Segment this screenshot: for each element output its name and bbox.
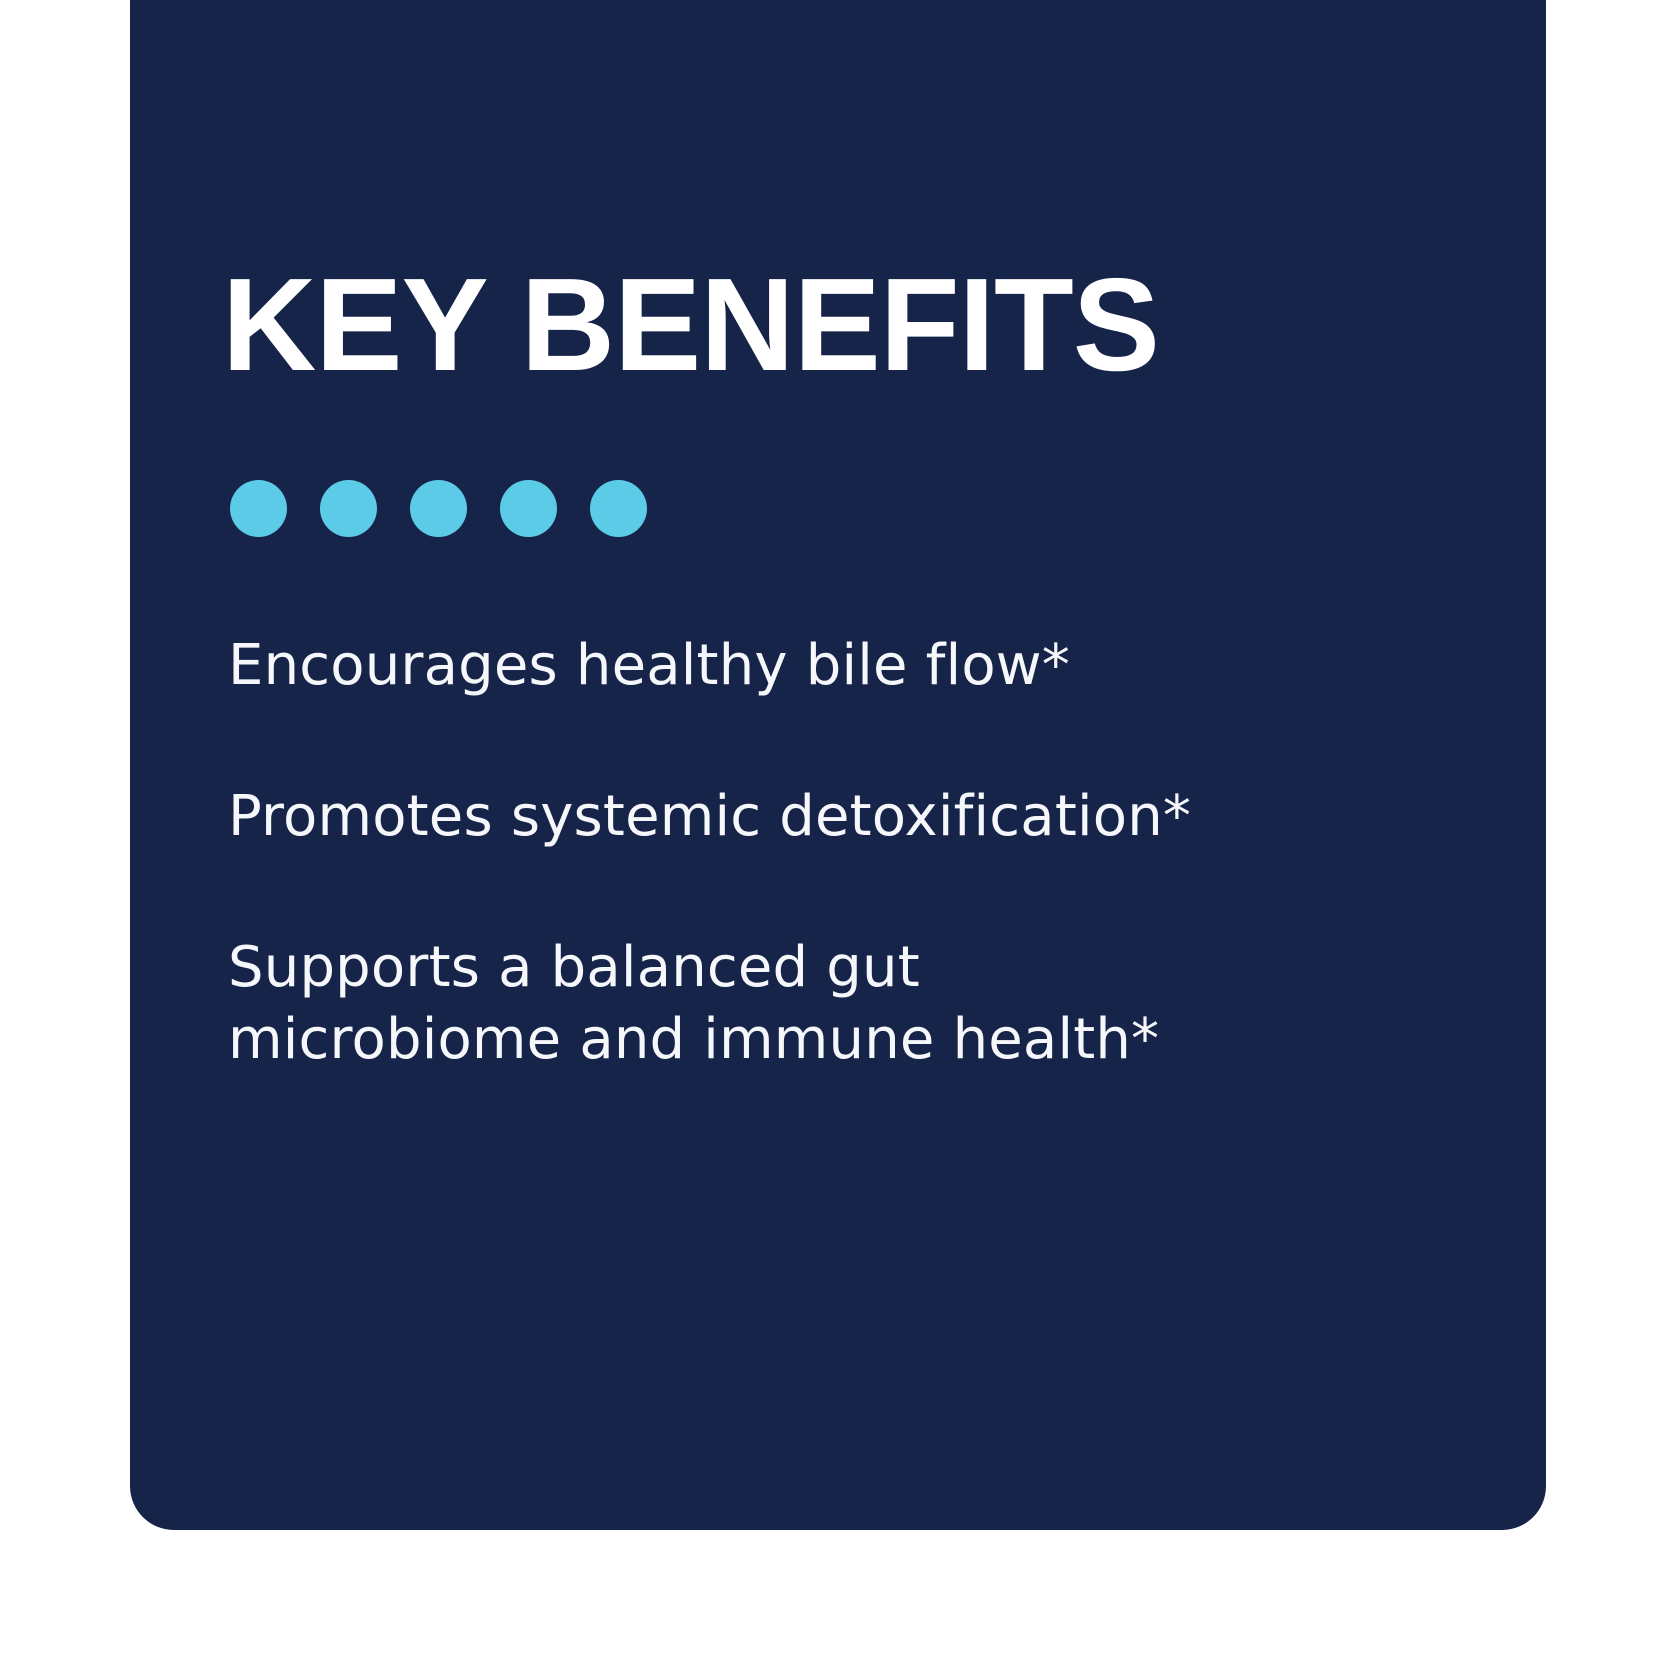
page-title: KEY BENEFITS <box>222 258 1159 393</box>
list-item: Encourages healthy bile flow* <box>228 630 1408 703</box>
key-benefits-card: KEY BENEFITS Encourages healthy bile flo… <box>130 0 1546 1530</box>
decorative-dot-icon <box>500 480 557 537</box>
decorative-dot-icon <box>410 480 467 537</box>
benefits-list: Encourages healthy bile flow* Promotes s… <box>228 630 1408 1077</box>
list-item: Promotes systemic detoxification* <box>228 781 1238 854</box>
page-root: KEY BENEFITS Encourages healthy bile flo… <box>0 0 1680 1680</box>
decorative-dot-icon <box>590 480 647 537</box>
decorative-dot-icon <box>320 480 377 537</box>
decorative-dot-icon <box>230 480 287 537</box>
dot-decoration-row <box>230 480 647 537</box>
list-item: Supports a balanced gut microbiome and i… <box>228 932 1238 1078</box>
